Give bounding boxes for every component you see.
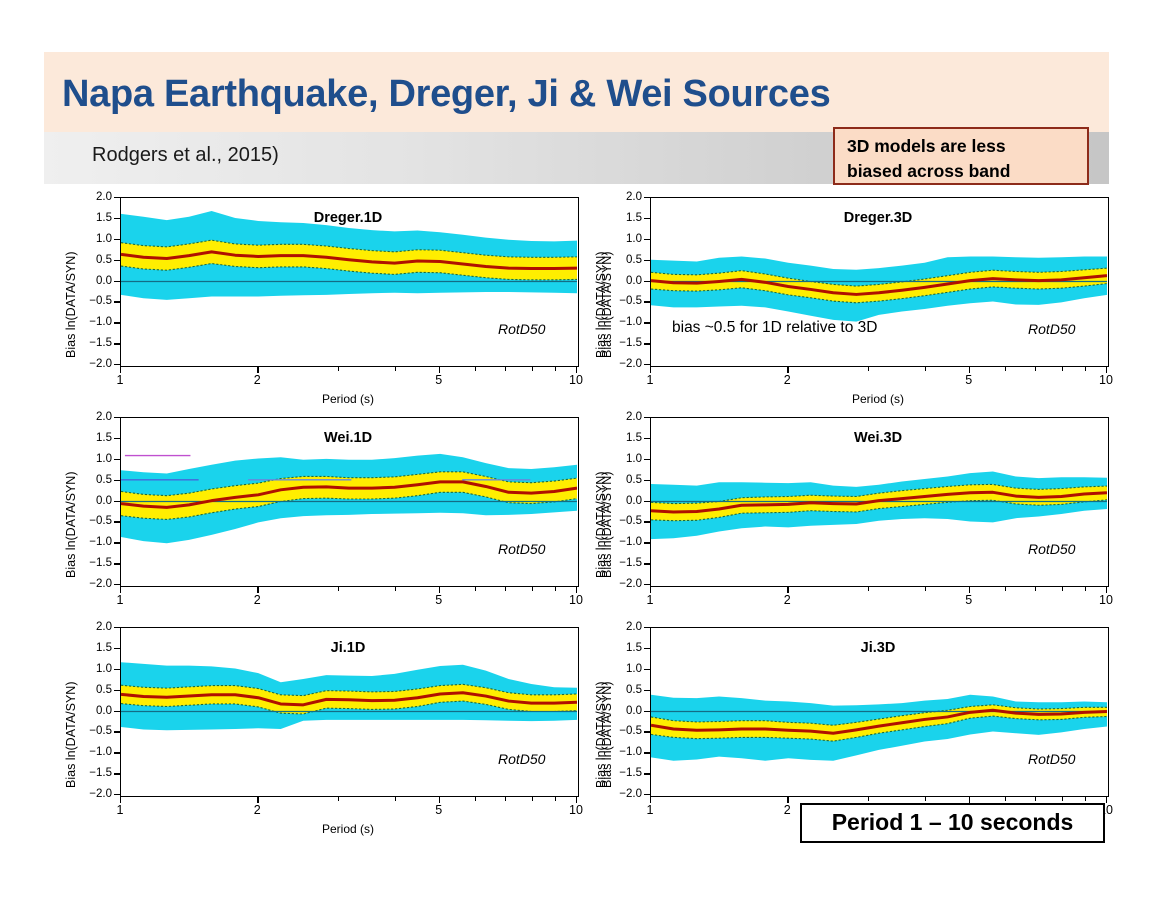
x-axis-label: Period (s) <box>120 392 576 406</box>
x-axis-minor-tick <box>555 587 556 591</box>
x-axis-minor-tick <box>1005 367 1006 371</box>
y-axis-tick-label: 2.0 <box>608 412 642 422</box>
x-axis-tick-mark <box>1106 797 1107 803</box>
rotd50-annotation: RotD50 <box>1028 541 1075 557</box>
x-axis-minor-tick <box>868 367 869 371</box>
x-axis-minor-tick <box>439 797 440 801</box>
y-axis-tick-label: 2.0 <box>78 622 112 632</box>
y-axis-tick-mark <box>644 322 650 323</box>
y-axis-tick-label: −1.5 <box>78 558 112 568</box>
x-axis-minor-tick <box>505 587 506 591</box>
y-axis-tick-label: 0.0 <box>78 706 112 716</box>
x-axis-tick-mark <box>576 797 577 803</box>
x-axis-minor-tick <box>1085 367 1086 371</box>
y-axis-tick-mark <box>114 584 120 585</box>
x-axis-minor-tick <box>787 797 788 801</box>
x-axis-tick-mark <box>650 367 651 373</box>
y-axis-tick-mark <box>644 584 650 585</box>
x-axis-tick-label: 1 <box>636 593 664 607</box>
x-axis-minor-tick <box>787 587 788 591</box>
y-axis-tick-label: −1.0 <box>78 317 112 327</box>
x-axis-tick-label: 2 <box>243 373 271 387</box>
y-axis-tick-mark <box>114 731 120 732</box>
x-axis-minor-tick <box>969 797 970 801</box>
y-axis-tick-mark <box>644 301 650 302</box>
y-axis-tick-mark <box>114 563 120 564</box>
x-axis-tick-label: 1 <box>106 373 134 387</box>
y-axis-tick-mark <box>114 501 120 502</box>
y-axis-tick-mark <box>644 731 650 732</box>
y-axis-tick-label: −0.5 <box>608 726 642 736</box>
y-axis-tick-label: −2.0 <box>608 789 642 799</box>
y-axis-tick-label: −1.0 <box>608 317 642 327</box>
y-axis-tick-mark <box>644 773 650 774</box>
page-title: Napa Earthquake, Dreger, Ji & Wei Source… <box>62 68 1102 120</box>
y-axis-tick-mark <box>114 480 120 481</box>
rotd50-annotation: RotD50 <box>1028 321 1075 337</box>
y-axis-tick-mark <box>644 627 650 628</box>
y-axis-tick-label: 1.0 <box>78 234 112 244</box>
y-axis-tick-label: −0.5 <box>608 516 642 526</box>
y-axis-tick-mark <box>114 322 120 323</box>
y-axis-tick-mark <box>644 197 650 198</box>
y-axis-tick-label: 2.0 <box>608 192 642 202</box>
y-axis-tick-mark <box>644 563 650 564</box>
panel-note: bias ~0.5 for 1D relative to 3D <box>672 319 877 337</box>
y-axis-tick-label: 0.0 <box>78 496 112 506</box>
y-axis-tick-mark <box>114 459 120 460</box>
x-axis-minor-tick <box>475 367 476 371</box>
x-axis-minor-tick <box>1062 587 1063 591</box>
callout-line-2: biased across band <box>847 159 1077 184</box>
y-axis-tick-label: 1.0 <box>78 454 112 464</box>
x-axis-minor-tick <box>925 587 926 591</box>
y-axis-tick-mark <box>644 438 650 439</box>
y-axis-tick-label: 1.5 <box>608 643 642 653</box>
y-axis-tick-label: −1.5 <box>608 338 642 348</box>
x-axis-tick-label: 2 <box>773 593 801 607</box>
y-axis-tick-label: 1.5 <box>78 433 112 443</box>
citation-text: Rodgers et al., 2015) <box>92 144 279 167</box>
y-axis-tick-label: −1.5 <box>78 768 112 778</box>
y-axis-tick-mark <box>644 480 650 481</box>
y-axis-tick-mark <box>114 343 120 344</box>
y-axis-tick-mark <box>644 542 650 543</box>
x-axis-minor-tick <box>338 367 339 371</box>
y-axis-label: Bias ln(DATA/SYN) <box>64 681 78 788</box>
x-axis-minor-tick <box>395 797 396 801</box>
x-axis-tick-label: 5 <box>955 593 983 607</box>
y-axis-tick-label: 0.0 <box>608 276 642 286</box>
x-axis-minor-tick <box>555 797 556 801</box>
y-axis-tick-label: 0.5 <box>78 685 112 695</box>
period-range-label: Period 1 – 10 seconds <box>802 805 1103 840</box>
y-axis-tick-mark <box>114 669 120 670</box>
x-axis-minor-tick <box>925 367 926 371</box>
y-axis-tick-label: 0.5 <box>608 255 642 265</box>
x-axis-minor-tick <box>1062 797 1063 801</box>
y-axis-label: Bias ln(DATA/SYN) <box>64 471 78 578</box>
y-axis-tick-mark <box>114 239 120 240</box>
x-axis-tick-label: 10 <box>1092 373 1120 387</box>
x-axis-minor-tick <box>925 797 926 801</box>
y-axis-tick-label: 1.5 <box>608 433 642 443</box>
x-axis-tick-mark <box>1106 587 1107 593</box>
x-axis-minor-tick <box>505 367 506 371</box>
x-axis-minor-tick <box>505 797 506 801</box>
x-axis-tick-label: 1 <box>636 803 664 817</box>
rotd50-annotation: RotD50 <box>498 321 545 337</box>
x-axis-tick-label: 5 <box>955 373 983 387</box>
x-axis-label: Period (s) <box>650 392 1106 406</box>
y-axis-tick-mark <box>644 260 650 261</box>
x-axis-minor-tick <box>555 367 556 371</box>
x-axis-minor-tick <box>439 367 440 371</box>
panel-title-wei-3d: Wei.3D <box>650 430 1106 446</box>
x-axis-minor-tick <box>868 797 869 801</box>
y-axis-tick-mark <box>114 690 120 691</box>
x-axis-tick-label: 1 <box>636 373 664 387</box>
x-axis-tick-label: 10 <box>562 593 590 607</box>
y-axis-tick-label: −2.0 <box>608 579 642 589</box>
y-axis-tick-mark <box>644 343 650 344</box>
x-axis-minor-tick <box>1085 797 1086 801</box>
x-axis-tick-mark <box>576 587 577 593</box>
panel-title-wei-1d: Wei.1D <box>120 430 576 446</box>
y-axis-label: Bias ln(DATA/SYN) <box>594 251 608 358</box>
y-axis-tick-mark <box>114 627 120 628</box>
y-axis-tick-label: −1.5 <box>608 768 642 778</box>
x-axis-tick-mark <box>650 587 651 593</box>
x-axis-tick-label: 5 <box>425 373 453 387</box>
y-axis-tick-label: −1.0 <box>78 537 112 547</box>
x-axis-tick-label: 10 <box>1092 593 1120 607</box>
x-axis-tick-label: 10 <box>562 373 590 387</box>
y-axis-tick-mark <box>114 260 120 261</box>
y-axis-tick-mark <box>114 417 120 418</box>
x-axis-tick-label: 2 <box>773 803 801 817</box>
x-axis-minor-tick <box>1005 587 1006 591</box>
y-axis-tick-mark <box>644 794 650 795</box>
x-axis-label: Period (s) <box>120 822 576 836</box>
rotd50-annotation: RotD50 <box>498 751 545 767</box>
x-axis-tick-label: 2 <box>773 373 801 387</box>
y-axis-tick-label: 0.0 <box>608 496 642 506</box>
rotd50-annotation: RotD50 <box>1028 751 1075 767</box>
y-axis-tick-label: 1.5 <box>608 213 642 223</box>
x-axis-minor-tick <box>1035 797 1036 801</box>
y-axis-tick-label: 1.0 <box>78 664 112 674</box>
x-axis-minor-tick <box>969 367 970 371</box>
y-axis-label: Bias ln(DATA/SYN) <box>64 251 78 358</box>
panel-title-ji-1d: Ji.1D <box>120 640 576 656</box>
y-axis-tick-mark <box>644 648 650 649</box>
y-axis-tick-label: −0.5 <box>78 516 112 526</box>
y-axis-tick-mark <box>114 542 120 543</box>
x-axis-minor-tick <box>1085 587 1086 591</box>
x-axis-minor-tick <box>1062 367 1063 371</box>
period-range-box: Period 1 – 10 seconds <box>800 803 1105 843</box>
x-axis-minor-tick <box>257 797 258 801</box>
y-axis-tick-label: 1.0 <box>608 664 642 674</box>
x-axis-minor-tick <box>257 367 258 371</box>
y-axis-tick-label: −2.0 <box>78 359 112 369</box>
callout-line-1: 3D models are less <box>847 134 1077 159</box>
y-axis-tick-mark <box>114 648 120 649</box>
y-axis-tick-mark <box>644 364 650 365</box>
x-axis-tick-mark <box>120 797 121 803</box>
x-axis-minor-tick <box>475 587 476 591</box>
callout-box: 3D models are less biased across band <box>833 127 1089 185</box>
y-axis-tick-label: 0.5 <box>608 685 642 695</box>
y-axis-tick-label: 1.5 <box>78 213 112 223</box>
y-axis-tick-mark <box>114 301 120 302</box>
y-axis-tick-mark <box>644 459 650 460</box>
y-axis-tick-mark <box>114 752 120 753</box>
panel-title-ji-3d: Ji.3D <box>650 640 1106 656</box>
y-axis-tick-label: −1.0 <box>608 537 642 547</box>
y-axis-tick-label: −0.5 <box>78 726 112 736</box>
x-axis-minor-tick <box>787 367 788 371</box>
x-axis-minor-tick <box>532 587 533 591</box>
x-axis-minor-tick <box>338 797 339 801</box>
x-axis-tick-mark <box>576 367 577 373</box>
y-axis-tick-mark <box>644 417 650 418</box>
y-axis-tick-label: −2.0 <box>78 789 112 799</box>
y-axis-label: Bias ln(DATA/SYN) <box>594 681 608 788</box>
rotd50-annotation: RotD50 <box>498 541 545 557</box>
x-axis-minor-tick <box>439 587 440 591</box>
y-axis-tick-mark <box>644 239 650 240</box>
y-axis-tick-mark <box>114 711 120 712</box>
x-axis-tick-label: 2 <box>243 593 271 607</box>
y-axis-tick-mark <box>644 521 650 522</box>
y-axis-tick-mark <box>114 218 120 219</box>
y-axis-tick-mark <box>114 773 120 774</box>
x-axis-minor-tick <box>532 797 533 801</box>
y-axis-tick-label: 2.0 <box>78 412 112 422</box>
y-axis-tick-mark <box>644 218 650 219</box>
y-axis-tick-mark <box>644 690 650 691</box>
y-axis-tick-label: 1.0 <box>608 454 642 464</box>
y-axis-tick-label: 2.0 <box>78 192 112 202</box>
y-axis-tick-mark <box>114 521 120 522</box>
x-axis-minor-tick <box>395 587 396 591</box>
y-axis-tick-label: 0.0 <box>608 706 642 716</box>
y-axis-tick-mark <box>114 438 120 439</box>
x-axis-tick-label: 5 <box>425 593 453 607</box>
y-axis-tick-label: 1.0 <box>608 234 642 244</box>
x-axis-minor-tick <box>969 587 970 591</box>
panel-title-dreger-1d: Dreger.1D <box>120 210 576 226</box>
y-axis-tick-mark <box>644 501 650 502</box>
y-axis-tick-mark <box>644 711 650 712</box>
x-axis-minor-tick <box>395 367 396 371</box>
x-axis-minor-tick <box>1035 587 1036 591</box>
y-axis-tick-label: −0.5 <box>78 296 112 306</box>
x-axis-minor-tick <box>1035 367 1036 371</box>
y-axis-tick-label: −1.5 <box>78 338 112 348</box>
y-axis-tick-mark <box>644 669 650 670</box>
y-axis-tick-label: 0.5 <box>78 475 112 485</box>
x-axis-tick-mark <box>120 367 121 373</box>
x-axis-minor-tick <box>475 797 476 801</box>
x-axis-tick-label: 10 <box>562 803 590 817</box>
y-axis-tick-label: −1.0 <box>78 747 112 757</box>
y-axis-tick-mark <box>114 364 120 365</box>
y-axis-tick-label: 1.5 <box>78 643 112 653</box>
x-axis-tick-mark <box>1106 367 1107 373</box>
y-axis-tick-label: −1.5 <box>608 558 642 568</box>
x-axis-tick-mark <box>650 797 651 803</box>
panel-title-dreger-3d: Dreger.3D <box>650 210 1106 226</box>
x-axis-tick-label: 5 <box>425 803 453 817</box>
y-axis-tick-mark <box>114 197 120 198</box>
x-axis-tick-mark <box>120 587 121 593</box>
x-axis-tick-label: 1 <box>106 593 134 607</box>
y-axis-tick-label: −2.0 <box>78 579 112 589</box>
y-axis-tick-label: 2.0 <box>608 622 642 632</box>
x-axis-minor-tick <box>257 587 258 591</box>
y-axis-tick-label: −2.0 <box>608 359 642 369</box>
y-axis-tick-mark <box>114 794 120 795</box>
y-axis-tick-label: −1.0 <box>608 747 642 757</box>
y-axis-label: Bias ln(DATA/SYN) <box>594 471 608 578</box>
x-axis-minor-tick <box>1005 797 1006 801</box>
y-axis-tick-mark <box>114 281 120 282</box>
y-axis-tick-label: 0.5 <box>608 475 642 485</box>
x-axis-tick-label: 1 <box>106 803 134 817</box>
x-axis-tick-label: 2 <box>243 803 271 817</box>
y-axis-tick-mark <box>644 752 650 753</box>
x-axis-minor-tick <box>532 367 533 371</box>
y-axis-tick-mark <box>644 281 650 282</box>
x-axis-minor-tick <box>338 587 339 591</box>
x-axis-minor-tick <box>868 587 869 591</box>
y-axis-tick-label: 0.0 <box>78 276 112 286</box>
y-axis-tick-label: 0.5 <box>78 255 112 265</box>
y-axis-tick-label: −0.5 <box>608 296 642 306</box>
